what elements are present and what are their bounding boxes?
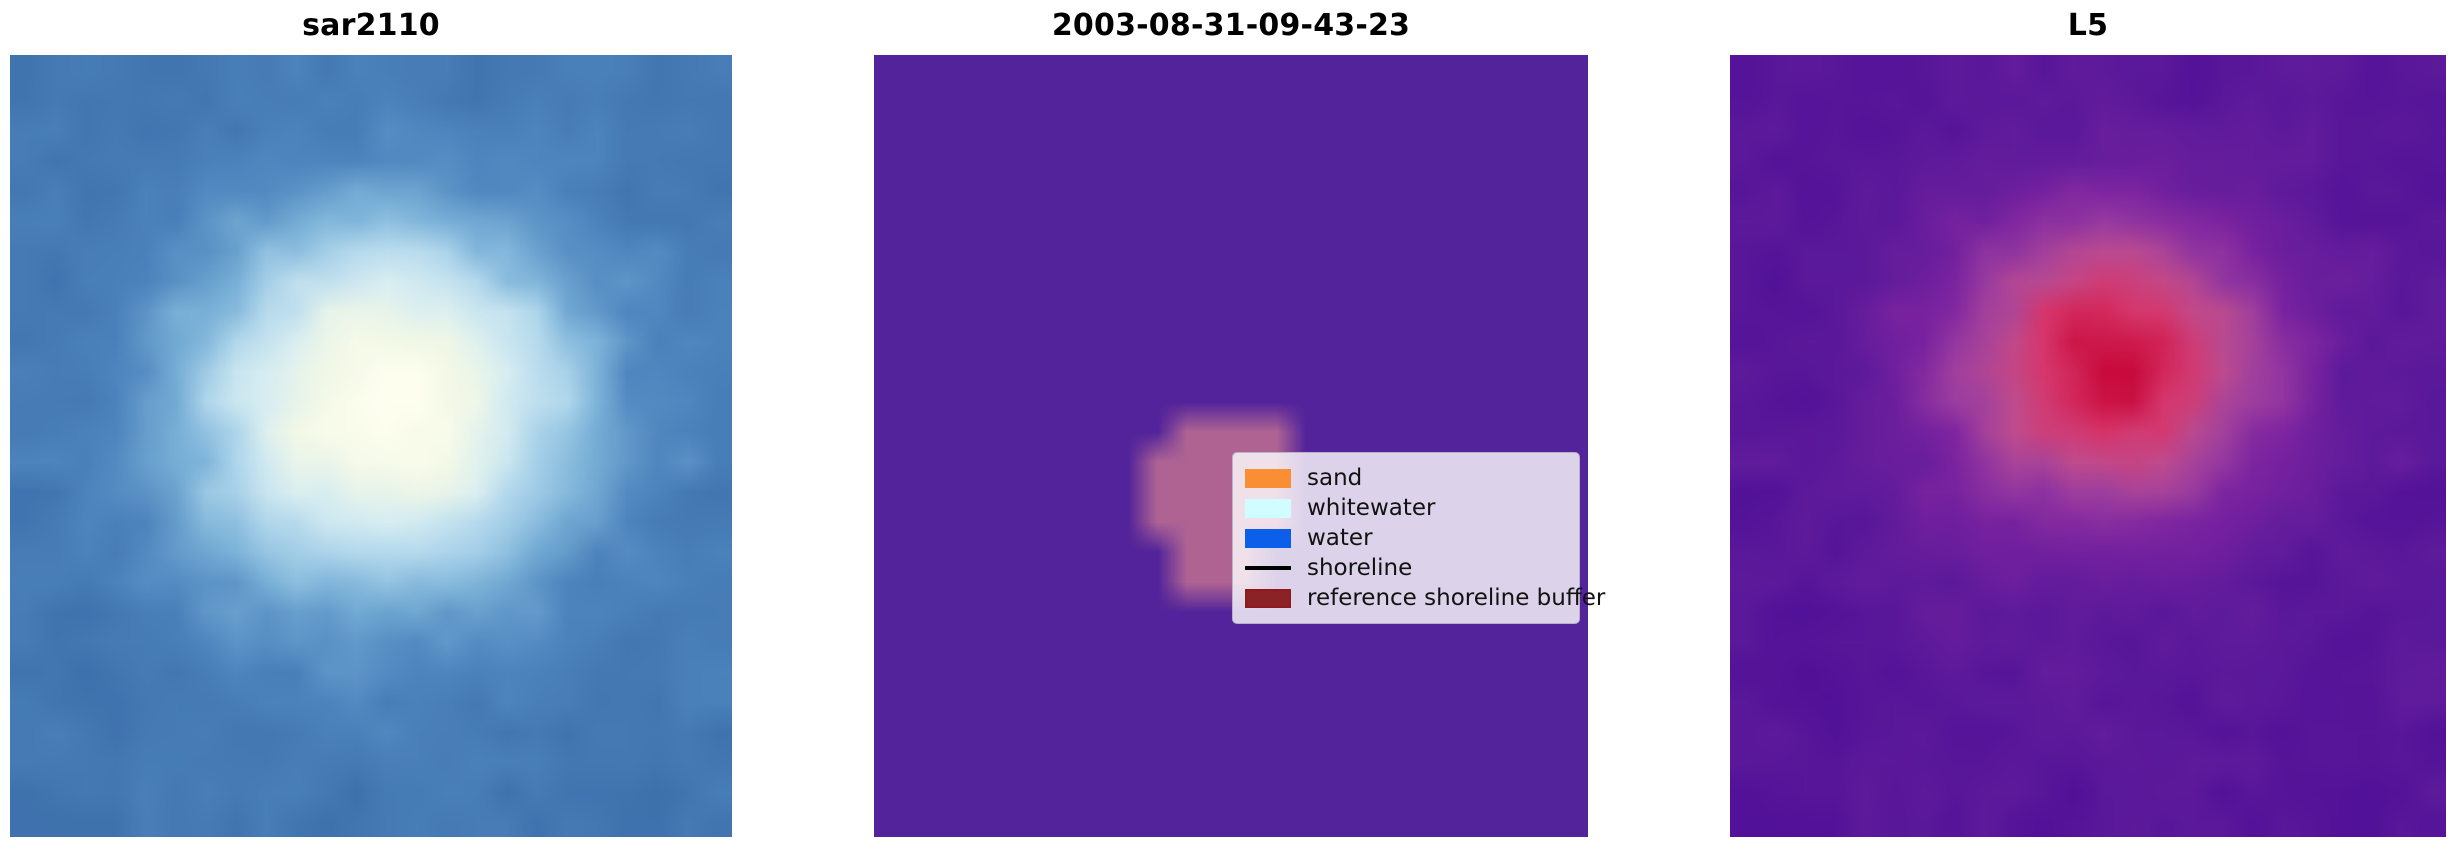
legend-item-water: water (1245, 523, 1567, 553)
panel-classification: 2003-08-31-09-43-23 (874, 55, 1588, 837)
panel-l5-title: L5 (1730, 8, 2446, 43)
l5-heatmap-canvas (1730, 55, 2446, 837)
figure-canvas: sar2110 2003-08-31-09-43-23 L5 sand (0, 0, 2460, 854)
panel-classification-raster (874, 55, 1588, 837)
legend-swatch-whitewater-wrap (1245, 499, 1307, 518)
panel-sar-title: sar2110 (10, 8, 732, 43)
shoreline-line-swatch-icon (1245, 566, 1291, 570)
sand-color-swatch-icon (1245, 469, 1291, 488)
legend-label-water: water (1307, 527, 1373, 550)
panel-classification-title: 2003-08-31-09-43-23 (874, 8, 1588, 43)
water-color-swatch-icon (1245, 529, 1291, 548)
panel-l5-raster (1730, 55, 2446, 837)
legend-swatch-shoreline-wrap (1245, 566, 1307, 570)
whitewater-color-swatch-icon (1245, 499, 1291, 518)
panel-sar: sar2110 (10, 55, 732, 837)
legend-label-shoreline: shoreline (1307, 557, 1412, 580)
legend-label-whitewater: whitewater (1307, 497, 1435, 520)
legend-swatch-sand-wrap (1245, 469, 1307, 488)
legend-swatch-reference-buffer-wrap (1245, 589, 1307, 608)
panel-l5: L5 (1730, 55, 2446, 837)
sar-heatmap-canvas (10, 55, 732, 837)
legend: sand whitewater water shoreline referenc (1232, 452, 1580, 624)
reference-shoreline-buffer-color-swatch-icon (1245, 589, 1291, 608)
legend-label-reference-shoreline-buffer: reference shoreline buffer (1307, 587, 1605, 610)
panel-sar-raster (10, 55, 732, 837)
legend-item-shoreline: shoreline (1245, 553, 1567, 583)
legend-item-reference-shoreline-buffer: reference shoreline buffer (1245, 583, 1567, 613)
legend-label-sand: sand (1307, 467, 1362, 490)
classification-heatmap-canvas (874, 55, 1588, 837)
legend-item-sand: sand (1245, 463, 1567, 493)
legend-swatch-water-wrap (1245, 529, 1307, 548)
legend-item-whitewater: whitewater (1245, 493, 1567, 523)
